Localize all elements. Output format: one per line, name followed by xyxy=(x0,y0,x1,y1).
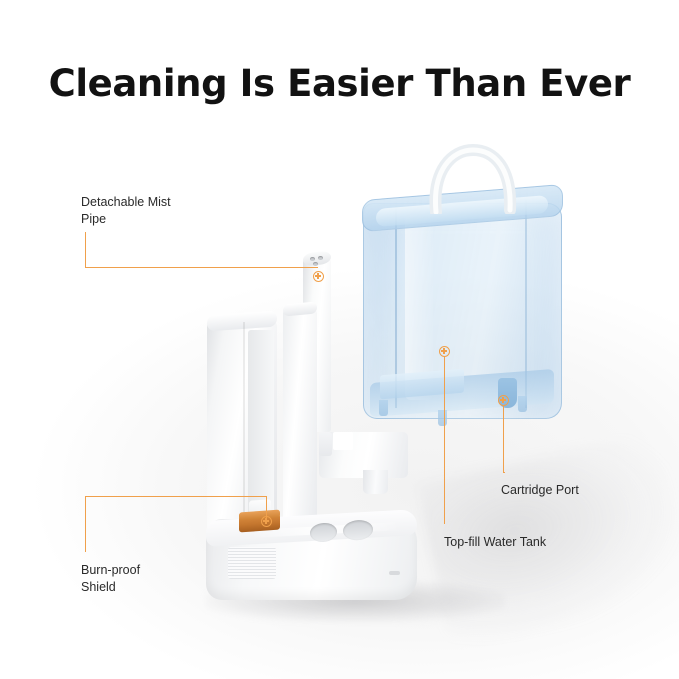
hotspot-detachable-mist-pipe[interactable] xyxy=(313,271,324,282)
leader-line-cartridge-horizontal xyxy=(503,472,505,473)
callout-layer: Detachable Mist Pipe Burn-proof Shield T… xyxy=(0,0,679,679)
hotspot-burn-proof-shield[interactable] xyxy=(261,516,272,527)
leader-line-tank-vertical xyxy=(444,356,445,524)
callout-label-detachable-mist-pipe: Detachable Mist Pipe xyxy=(81,194,231,228)
leader-line-shield-vertical-left xyxy=(85,496,86,552)
leader-line-mist-pipe-horizontal xyxy=(85,267,318,268)
callout-label-burn-proof-shield: Burn-proof Shield xyxy=(81,562,231,596)
leader-line-shield-horizontal xyxy=(85,496,266,497)
hotspot-cartridge-port[interactable] xyxy=(498,395,509,406)
callout-label-cartridge-port: Cartridge Port xyxy=(501,482,661,499)
leader-line-mist-pipe-vertical xyxy=(85,232,86,268)
hotspot-top-fill-water-tank[interactable] xyxy=(439,346,450,357)
leader-line-cartridge-vertical xyxy=(503,405,504,472)
leader-line-shield-vertical-right xyxy=(266,496,267,518)
illustration-canvas: Cleaning Is Easier Than Ever xyxy=(0,0,679,679)
callout-label-top-fill-water-tank: Top-fill Water Tank xyxy=(444,534,614,551)
